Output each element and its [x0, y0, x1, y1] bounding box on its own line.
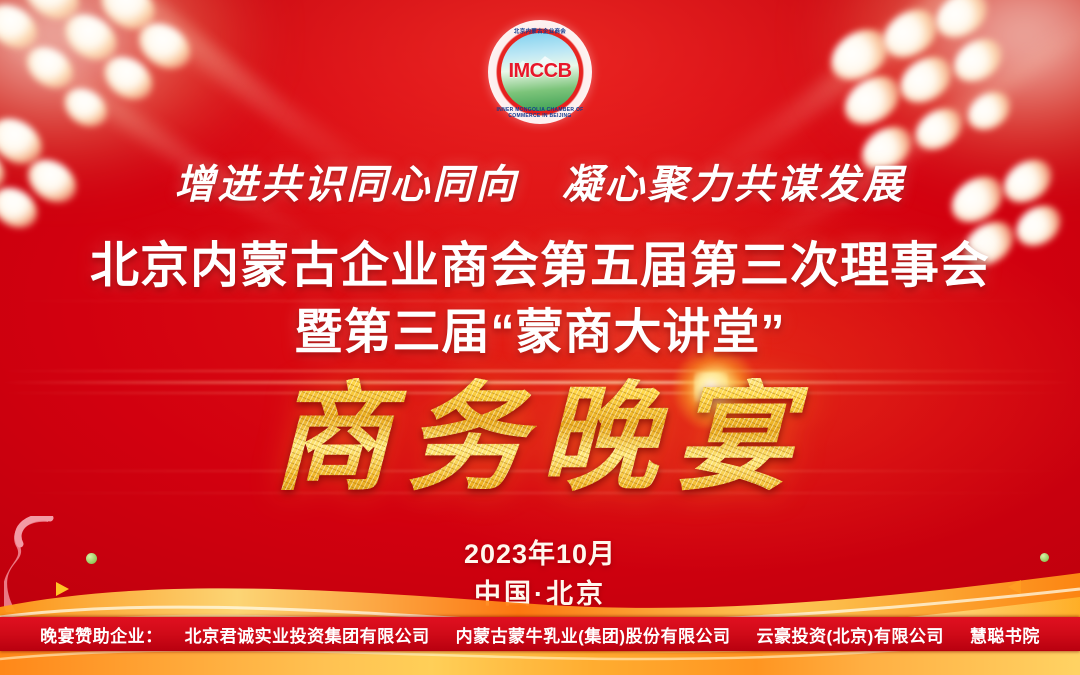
light-streak — [0, 370, 1080, 372]
event-title-line-2: 暨第三届“蒙商大讲堂” — [0, 292, 1080, 362]
event-title-line-1: 北京内蒙古企业商会第五届第三次理事会 — [0, 226, 1080, 297]
sponsor-item: 慧聪书院 — [970, 622, 1040, 647]
logo-arc-bottom-text: INNER MONGOLIA CHAMBER OF COMMERCE IN BE… — [488, 107, 592, 119]
logo-acronym: IMCCB — [488, 60, 592, 83]
sponsor-item: 云豪投资(北京)有限公司 — [757, 622, 944, 647]
banquet-gold-title: 商务晚宴 — [0, 378, 1080, 502]
light-ray — [765, 0, 1080, 144]
event-slogan: 增进共识同心同向 凝心聚力共谋发展 — [0, 152, 1080, 210]
sponsor-label: 晚宴赞助企业： — [40, 622, 163, 647]
golden-wave-decoration — [0, 555, 1080, 675]
sponsor-item: 内蒙古蒙牛乳业(集团)股份有限公司 — [456, 622, 731, 647]
light-ray — [0, 0, 315, 144]
sponsor-item: 北京君诚实业投资集团有限公司 — [185, 622, 430, 647]
sponsor-bar: 晚宴赞助企业： 北京君诚实业投资集团有限公司 内蒙古蒙牛乳业(集团)股份有限公司… — [0, 617, 1080, 651]
event-poster: 北京内蒙古企业商会 IMCCB INNER MONGOLIA CHAMBER O… — [0, 0, 1080, 675]
chamber-logo: 北京内蒙古企业商会 IMCCB INNER MONGOLIA CHAMBER O… — [488, 20, 592, 124]
sponsor-list: 晚宴赞助企业： 北京君诚实业投资集团有限公司 内蒙古蒙牛乳业(集团)股份有限公司… — [40, 622, 1040, 647]
logo-arc-top-text: 北京内蒙古企业商会 — [488, 27, 592, 35]
